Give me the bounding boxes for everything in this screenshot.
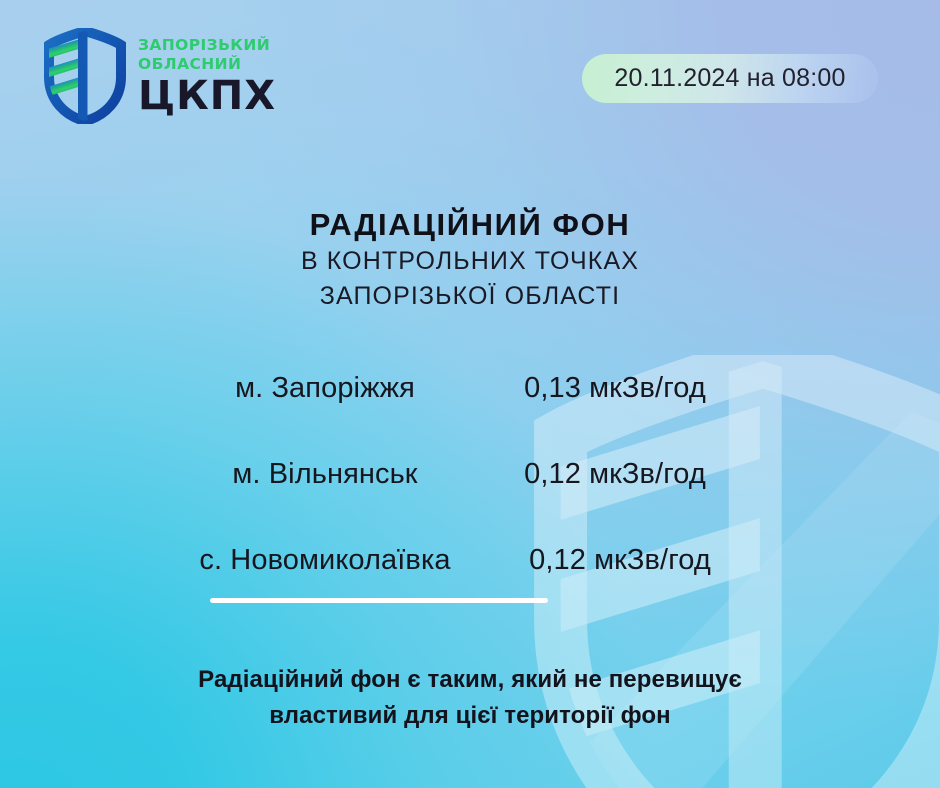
footer-note: Радіаційний фон є таким, який не перевищ… [0, 662, 940, 735]
measurement-row: с. Новомиколаївка 0,12 мкЗв/год [0, 544, 940, 630]
measurement-row: м. Вільнянськ 0,12 мкЗв/год [0, 458, 940, 544]
logo-line-1: ЗАПОРІЗЬКИЙ [138, 36, 276, 54]
section-divider [210, 598, 548, 603]
measurement-value: 0,12 мкЗв/год [300, 544, 940, 577]
measurement-row: м. Запоріжжя 0,13 мкЗв/год [0, 372, 940, 458]
date-time-badge: 20.11.2024 на 08:00 [582, 54, 878, 103]
footer-note-line-2: властивий для цієї території фон [0, 698, 940, 734]
page-title: РАДІАЦІЙНИЙ ФОН [0, 208, 940, 243]
brand-logo: ЗАПОРІЗЬКИЙ ОБЛАСНИЙ ЦКПХ [44, 28, 276, 124]
logo-line-2: ОБЛАСНИЙ [138, 55, 276, 73]
logo-acronym: ЦКПХ [138, 76, 276, 116]
measurement-value: 0,12 мкЗв/год [290, 458, 940, 491]
page-subtitle-line-1: В КОНТРОЛЬНИХ ТОЧКАХ [0, 245, 940, 278]
footer-note-line-1: Радіаційний фон є таким, який не перевищ… [0, 662, 940, 698]
measurements-list: м. Запоріжжя 0,13 мкЗв/год м. Вільнянськ… [0, 372, 940, 630]
page-subtitle-line-2: ЗАПОРІЗЬКОЇ ОБЛАСТІ [0, 280, 940, 313]
date-time-text: 20.11.2024 на 08:00 [614, 64, 845, 93]
shield-e-logo-icon [44, 28, 126, 124]
heading-block: РАДІАЦІЙНИЙ ФОН В КОНТРОЛЬНИХ ТОЧКАХ ЗАП… [0, 208, 940, 313]
poster-canvas: ЗАПОРІЗЬКИЙ ОБЛАСНИЙ ЦКПХ 20.11.2024 на … [0, 0, 940, 788]
logo-wordmark: ЗАПОРІЗЬКИЙ ОБЛАСНИЙ ЦКПХ [138, 36, 276, 116]
measurement-value: 0,13 мкЗв/год [290, 372, 940, 405]
